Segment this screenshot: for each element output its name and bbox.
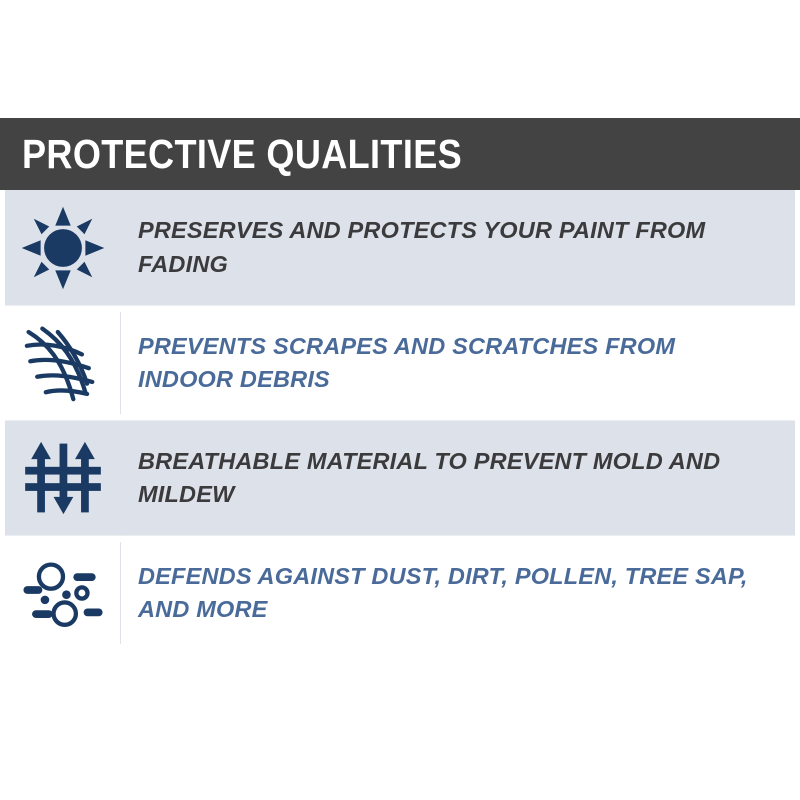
row-icon-cell xyxy=(5,306,120,421)
row-divider xyxy=(120,427,121,529)
list-item-label: DEFENDS AGAINST DUST, DIRT, POLLEN, TREE… xyxy=(120,560,795,627)
list-item: BREATHABLE MATERIAL TO PREVENT MOLD AND … xyxy=(5,420,795,535)
protective-qualities-panel: PROTECTIVE QUALITIES xyxy=(0,118,800,650)
sun-icon xyxy=(20,205,106,291)
page-title: PROTECTIVE QUALITIES xyxy=(22,134,462,175)
list-item-label: PREVENTS SCRAPES AND SCRATCHES FROM INDO… xyxy=(120,330,795,397)
dust-particles-icon xyxy=(20,550,106,636)
list-item: PRESERVES AND PROTECTS YOUR PAINT FROM F… xyxy=(5,190,795,305)
feature-list: PRESERVES AND PROTECTS YOUR PAINT FROM F… xyxy=(0,190,800,650)
row-divider xyxy=(120,542,121,644)
list-item: PREVENTS SCRAPES AND SCRATCHES FROM INDO… xyxy=(5,305,795,420)
list-item-label: PRESERVES AND PROTECTS YOUR PAINT FROM F… xyxy=(120,214,795,281)
row-divider xyxy=(120,196,121,299)
list-item: DEFENDS AGAINST DUST, DIRT, POLLEN, TREE… xyxy=(5,535,795,650)
page-root: PROTECTIVE QUALITIES xyxy=(0,0,800,800)
row-icon-cell xyxy=(5,190,120,305)
list-item-label: BREATHABLE MATERIAL TO PREVENT MOLD AND … xyxy=(120,445,795,512)
panel-header: PROTECTIVE QUALITIES xyxy=(0,118,800,190)
row-icon-cell xyxy=(5,421,120,536)
row-divider xyxy=(120,312,121,414)
breathable-arrows-icon xyxy=(20,435,106,521)
woven-mesh-icon xyxy=(20,320,106,406)
row-icon-cell xyxy=(5,536,120,651)
